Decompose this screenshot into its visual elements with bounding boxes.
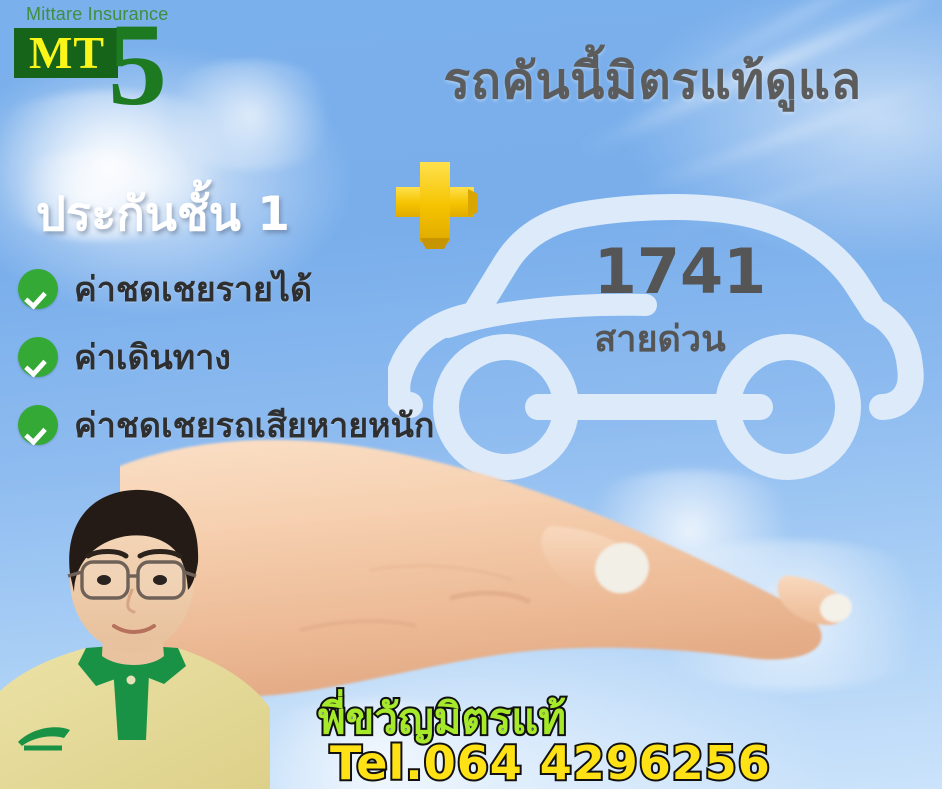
gold-plus-icon	[396, 160, 478, 252]
list-item: ค่าชดเชยรายได้	[18, 262, 312, 316]
check-icon	[18, 405, 58, 445]
check-icon	[18, 337, 58, 377]
insurance-promo-poster: 1741 สายด่วน	[0, 0, 942, 789]
benefit-label: ค่าเดินทาง	[74, 330, 231, 384]
agent-portrait	[0, 440, 270, 789]
phone-number[interactable]: Tel.064 4296256	[330, 736, 771, 789]
benefit-label: ค่าชดเชยรายได้	[74, 262, 312, 316]
logo-number: 5	[108, 6, 167, 124]
list-item: ค่าชดเชยรถเสียหายหนัก	[18, 398, 434, 452]
benefit-label: ค่าชดเชยรถเสียหายหนัก	[74, 398, 434, 452]
page-title: รถคันนี้มิตรแท้ดูแล	[380, 42, 925, 121]
hotline-number: 1741	[560, 235, 800, 308]
brand-logo: Mittare Insurance MT 5	[8, 4, 198, 119]
logo-mark-text: MT	[18, 26, 116, 80]
offer-title: ประกันชั้น 1	[36, 176, 290, 251]
list-item: ค่าเดินทาง	[18, 330, 231, 384]
check-icon	[18, 269, 58, 309]
hotline-label: สายด่วน	[540, 310, 780, 367]
